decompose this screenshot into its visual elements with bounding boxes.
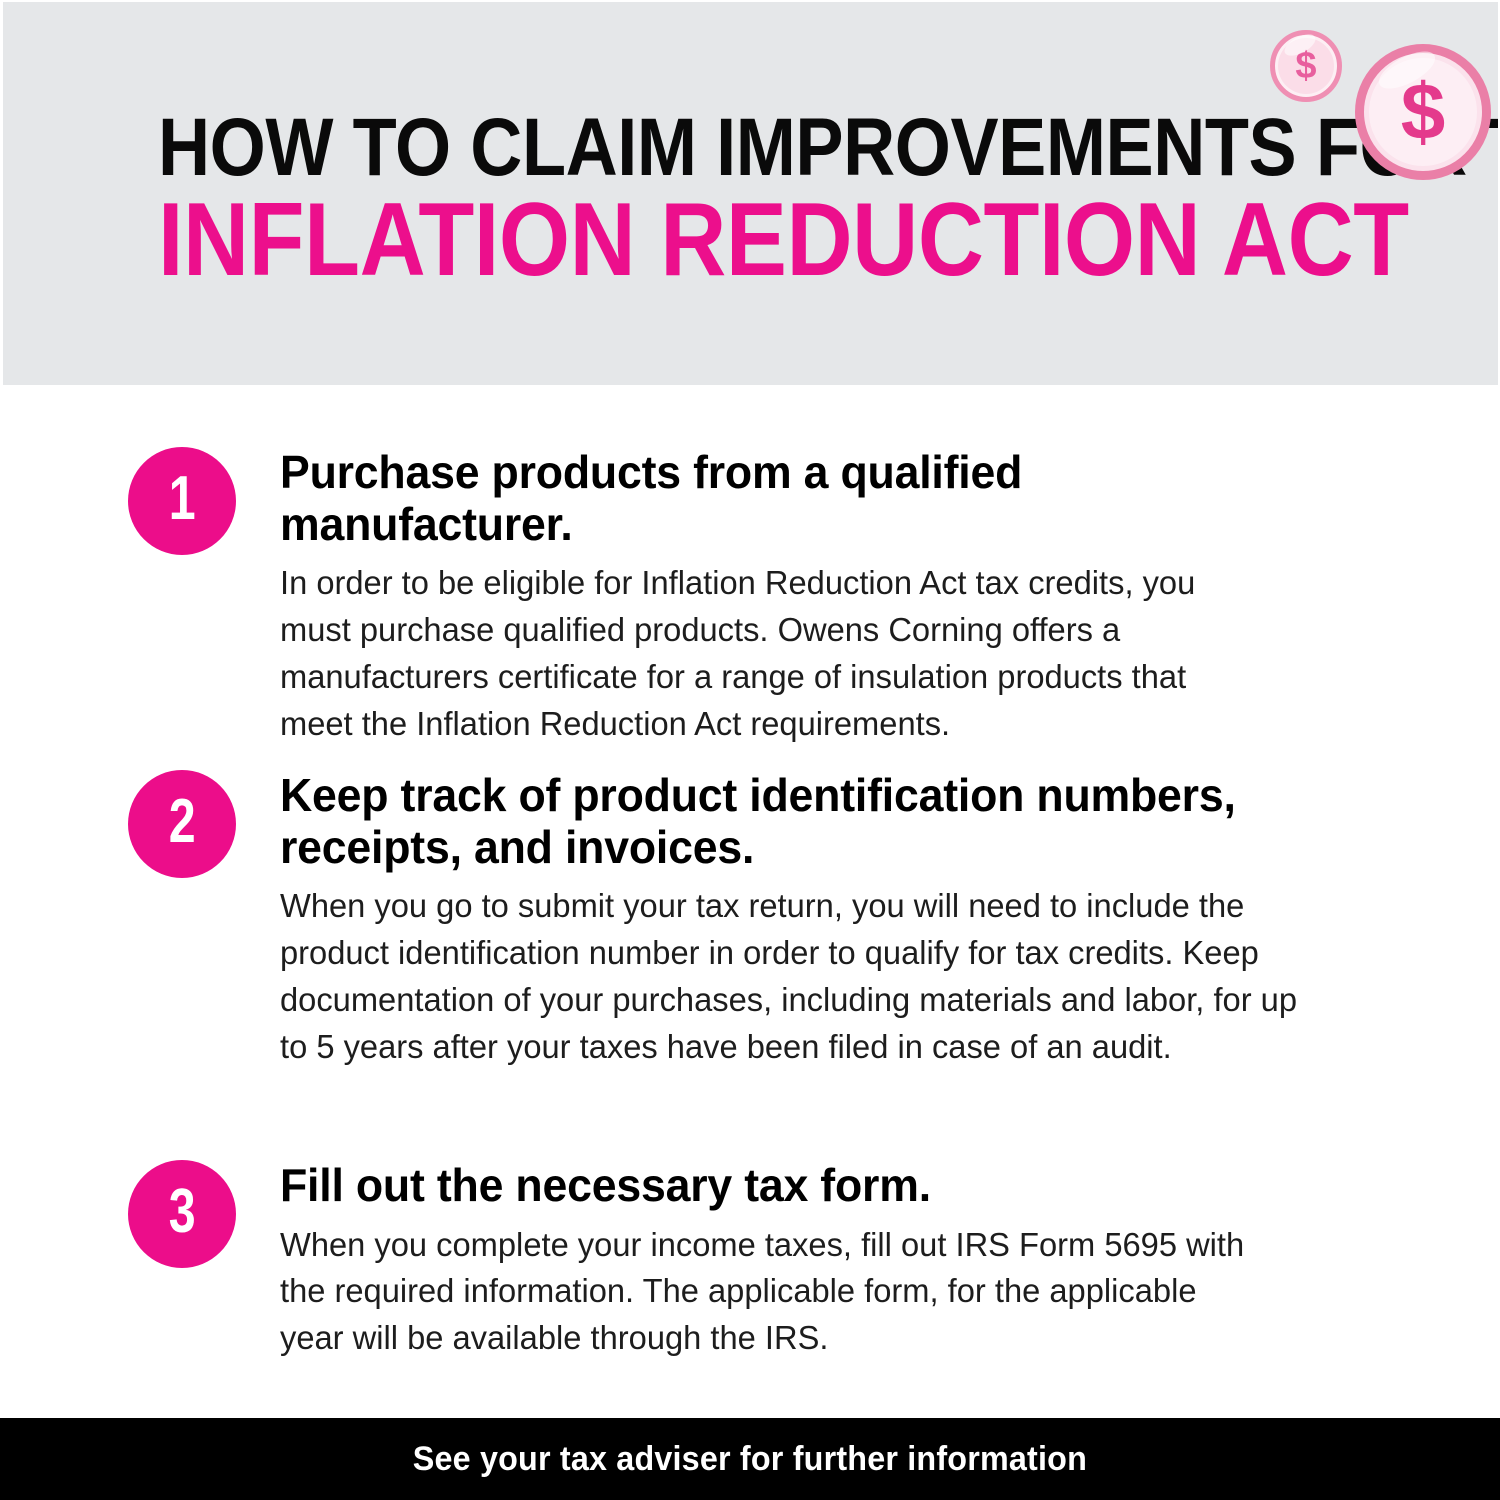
step-number-badge-3: 3: [128, 1160, 236, 1268]
step-number-badge-2: 2: [128, 770, 236, 878]
dollar-coin-large-icon: $: [1355, 44, 1491, 180]
footer-message: See your tax adviser for further informa…: [413, 1440, 1087, 1479]
step-number-badge-1: 1: [128, 447, 236, 555]
step-number-label-3: 3: [169, 1181, 196, 1247]
step-content-3: Fill out the necessary tax form. When yo…: [280, 1160, 1340, 1362]
infographic-page: HOW TO CLAIM IMPROVEMENTS FOR THE INFLAT…: [0, 0, 1500, 1500]
step-heading-2: Keep track of product identification num…: [280, 770, 1308, 873]
page-title: HOW TO CLAIM IMPROVEMENTS FOR THE INFLAT…: [158, 110, 1338, 289]
step-description-3: When you complete your income taxes, fil…: [280, 1222, 1260, 1363]
step-heading-1: Purchase products from a qualified manuf…: [280, 447, 1308, 550]
footer-bar: See your tax adviser for further informa…: [0, 1418, 1500, 1500]
step-content-1: Purchase products from a qualified manuf…: [280, 447, 1340, 747]
dollar-coin-small-icon: $: [1270, 30, 1342, 102]
step-content-2: Keep track of product identification num…: [280, 770, 1340, 1070]
step-heading-3: Fill out the necessary tax form.: [280, 1160, 1308, 1212]
step-description-2: When you go to submit your tax return, y…: [280, 883, 1324, 1070]
header-band: HOW TO CLAIM IMPROVEMENTS FOR THE INFLAT…: [3, 2, 1498, 385]
title-line-accent: INFLATION REDUCTION ACT: [158, 192, 1196, 289]
dollar-sign-glyph-small: $: [1295, 47, 1316, 85]
step-description-1: In order to be eligible for Inflation Re…: [280, 560, 1235, 747]
dollar-sign-glyph-large: $: [1401, 72, 1446, 152]
step-number-label-1: 1: [169, 468, 196, 534]
step-number-label-2: 2: [169, 791, 196, 857]
title-line-primary: HOW TO CLAIM IMPROVEMENTS FOR THE: [158, 110, 1196, 186]
